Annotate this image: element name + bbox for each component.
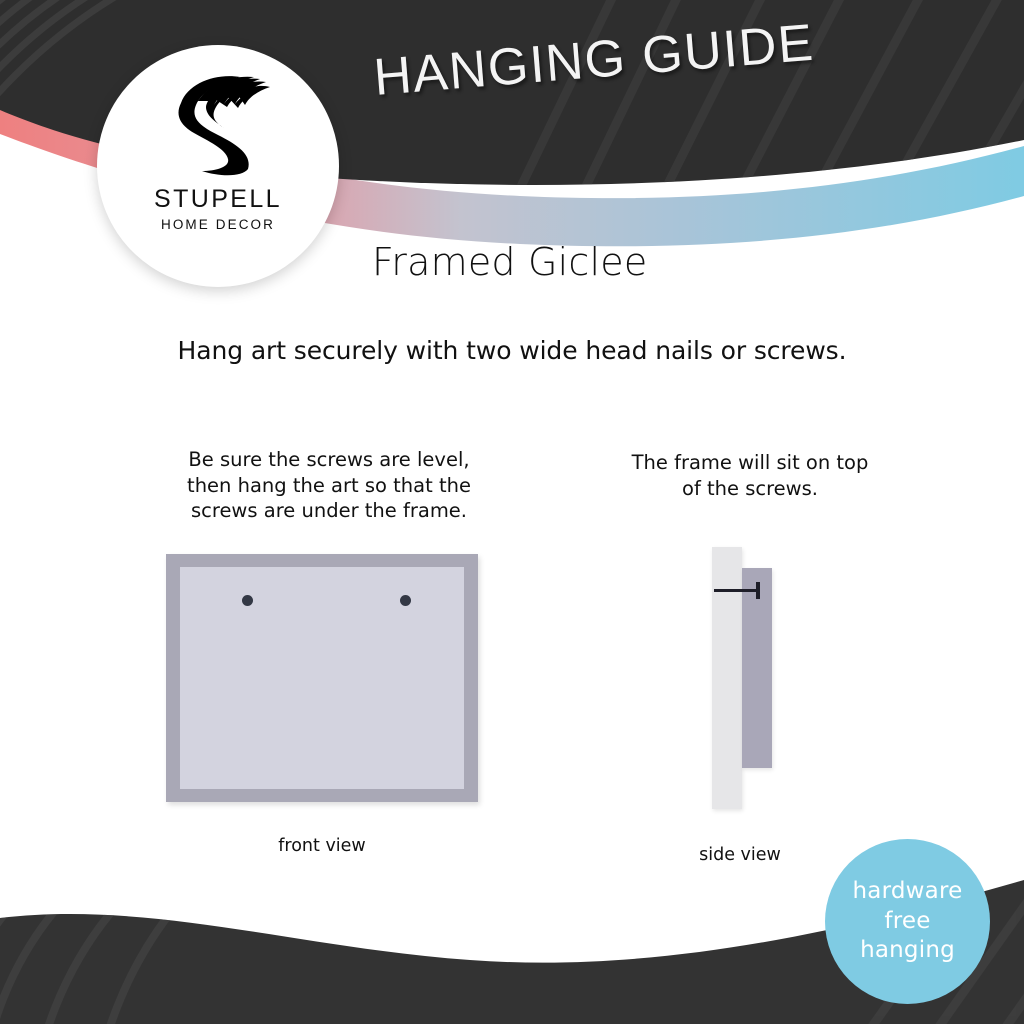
- page-title: HANGING GUIDE: [372, 6, 895, 108]
- side-view-screw-shaft-icon: [714, 589, 758, 592]
- front-view-label: front view: [166, 836, 478, 856]
- side-view-screw-head-icon: [756, 582, 760, 599]
- product-type-title: Framed Giclee: [372, 240, 647, 284]
- front-view-caption-line-1: Be sure the screws are level,: [163, 447, 495, 473]
- logo-subwordmark: HOME DECOR: [161, 217, 275, 232]
- side-view-wall: [712, 547, 742, 809]
- stupell-s-swoosh-logo-icon: [158, 71, 278, 179]
- screw-dot-right-icon: [400, 595, 411, 606]
- screw-dot-left-icon: [242, 595, 253, 606]
- hardware-free-hanging-badge: hardware free hanging: [825, 839, 990, 1004]
- hanging-guide-infographic: HANGING GUIDE STUPELL HOME DECOR Framed …: [0, 0, 1024, 1024]
- badge-line-2: free: [884, 907, 930, 936]
- side-view-caption-line-2: of the screws.: [605, 476, 895, 502]
- side-view-label: side view: [650, 845, 830, 865]
- front-view-frame-panel: [180, 567, 464, 789]
- side-view-frame-diagram: [706, 545, 778, 813]
- front-view-frame-diagram: [166, 554, 478, 802]
- side-view-caption-line-1: The frame will sit on top: [605, 450, 895, 476]
- main-instruction-text: Hang art securely with two wide head nai…: [0, 336, 1024, 365]
- badge-line-3: hanging: [860, 936, 955, 965]
- badge-line-1: hardware: [853, 877, 963, 906]
- side-view-caption: The frame will sit on top of the screws.: [605, 450, 895, 501]
- brand-logo-badge: STUPELL HOME DECOR: [97, 45, 339, 287]
- front-view-caption: Be sure the screws are level, then hang …: [163, 447, 495, 524]
- logo-wordmark: STUPELL: [154, 185, 282, 214]
- front-view-caption-line-2: then hang the art so that the: [163, 473, 495, 499]
- front-view-caption-line-3: screws are under the frame.: [163, 498, 495, 524]
